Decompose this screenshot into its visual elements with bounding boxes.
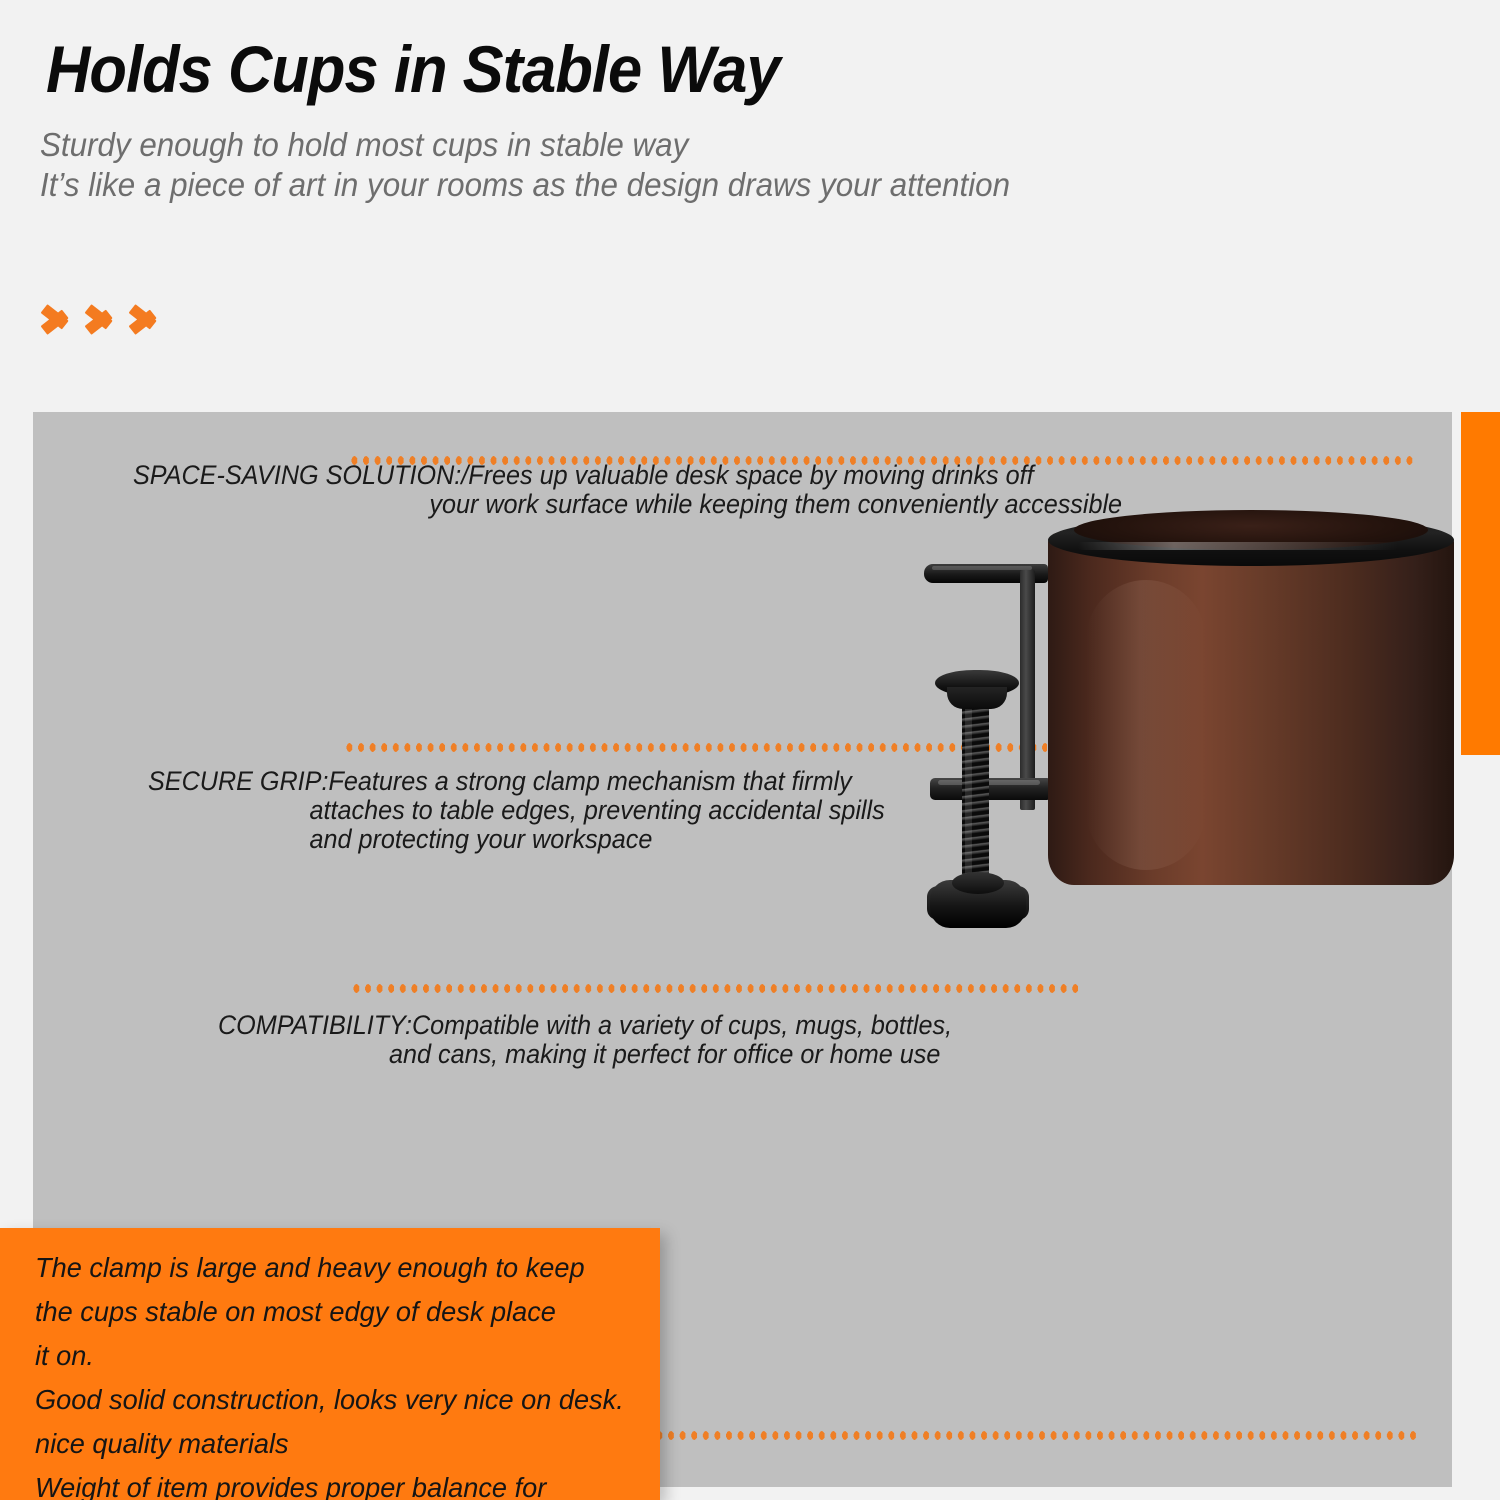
feature-secure-grip: SECURE GRIP:Features a strong clamp mech… [148, 767, 885, 854]
clamp-vertical-post [1020, 570, 1035, 810]
knob-skirt [947, 687, 1007, 709]
testimonial-text: The clamp is large and heavy enough to k… [35, 1246, 624, 1500]
cup-holder-cup [1048, 510, 1454, 885]
chevron-right-icon [130, 297, 170, 343]
chevron-right-icon [86, 297, 126, 343]
testimonial-line: Good solid construction, looks very nice… [35, 1378, 624, 1422]
cup-rim-highlight [1078, 542, 1398, 550]
testimonial-line: Weight of item provides proper balance f… [35, 1466, 624, 1500]
clamp-top-knob [935, 670, 1019, 712]
feature-text-line: COMPATIBILITY:Compatible with a variety … [218, 1011, 952, 1040]
clamp-base-plate [930, 778, 1052, 800]
cup-body-highlight [1086, 580, 1206, 870]
chevron-right-icon [42, 297, 82, 343]
testimonial-line: the cups stable on most edgy of desk pla… [35, 1290, 624, 1334]
feature-text-line: attaches to table edges, preventing acci… [148, 796, 885, 825]
feature-text-line: SECURE GRIP:Features a strong clamp mech… [148, 767, 885, 796]
subtitle-line-1: Sturdy enough to hold most cups in stabl… [40, 125, 1010, 165]
page-title: Holds Cups in Stable Way [46, 33, 780, 105]
testimonial-line: The clamp is large and heavy enough to k… [35, 1246, 624, 1290]
clamp-threaded-screw [962, 702, 989, 889]
feature-text-line: and cans, making it perfect for office o… [218, 1040, 952, 1069]
feature-text-line: SPACE-SAVING SOLUTION:/Frees up valuable… [133, 461, 1122, 490]
dotted-connector-line [655, 1430, 1417, 1441]
testimonial-line: nice quality materials [35, 1422, 624, 1466]
infographic-page: Holds Cups in Stable Way Sturdy enough t… [0, 0, 1500, 1500]
feature-compatibility: COMPATIBILITY:Compatible with a variety … [218, 1011, 952, 1069]
feature-text-line: and protecting your workspace [148, 825, 885, 854]
testimonial-line: it on. [35, 1334, 624, 1378]
page-subtitle: Sturdy enough to hold most cups in stabl… [40, 125, 1010, 205]
knob-top-face [952, 872, 1004, 894]
testimonial-box: The clamp is large and heavy enough to k… [0, 1228, 660, 1500]
subtitle-line-2: It’s like a piece of art in your rooms a… [40, 165, 1010, 205]
product-image-cup-holder [900, 490, 1470, 1010]
clamp-bottom-knob [930, 872, 1026, 928]
chevron-group [42, 297, 170, 343]
